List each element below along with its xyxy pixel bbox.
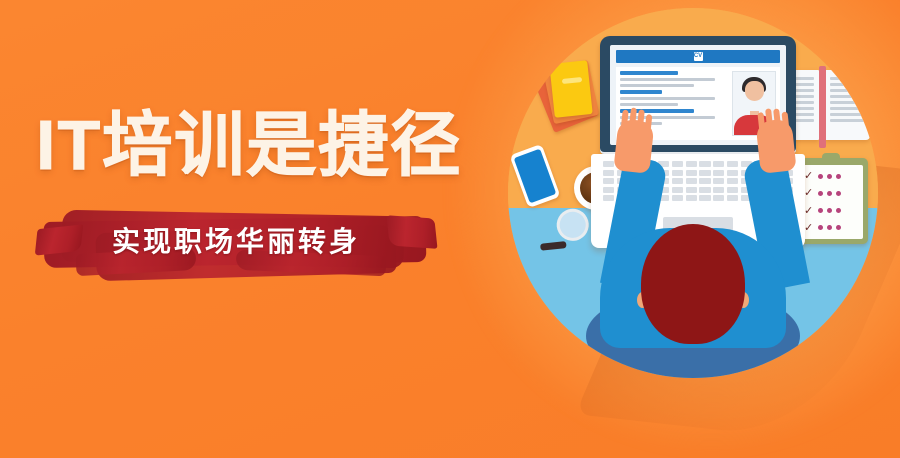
checklist-row: ✓: [804, 188, 858, 198]
checklist-sheet: ✓ ✓ ✓ ✓: [799, 165, 863, 239]
checklist-row: ✓: [804, 171, 858, 181]
head: [641, 224, 745, 344]
check-icon: ✓: [804, 223, 814, 233]
left-hand: [613, 118, 654, 173]
checklist-row: ✓: [804, 206, 858, 216]
resume-header-bar: CV: [616, 50, 780, 63]
circle-scene: ✓ ✓ ✓ ✓: [508, 8, 878, 378]
check-icon: ✓: [804, 206, 814, 216]
desk-illustration: ✓ ✓ ✓ ✓: [508, 8, 878, 378]
check-icon: ✓: [804, 171, 814, 181]
subtitle-text: 实现职场华丽转身: [36, 221, 436, 263]
cv-badge: CV: [694, 52, 703, 61]
clipboard-checklist-icon: ✓ ✓ ✓ ✓: [794, 158, 868, 244]
page-title: IT培训是捷径: [36, 106, 462, 184]
checklist-row: ✓: [804, 223, 858, 233]
subtitle-banner: 实现职场华丽转身: [36, 205, 436, 283]
stacked-books-icon: [538, 60, 604, 126]
right-hand: [755, 118, 796, 173]
promo-banner: IT培训是捷径 实现职场华丽转身: [0, 0, 900, 458]
check-icon: ✓: [804, 188, 814, 198]
